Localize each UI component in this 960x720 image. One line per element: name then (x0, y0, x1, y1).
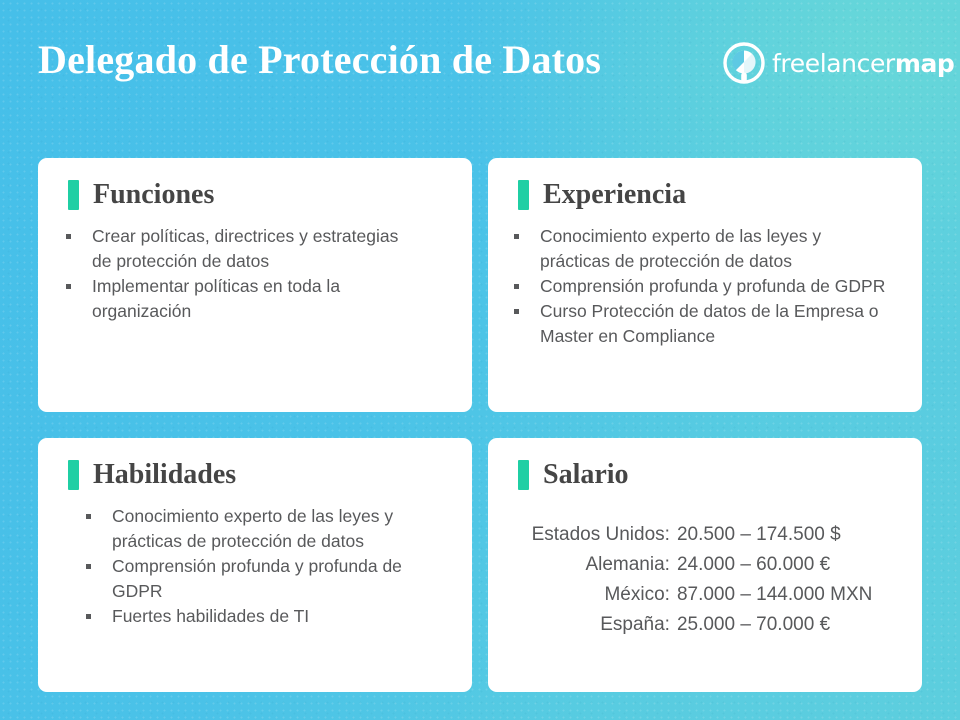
list-item: Conocimiento experto de las leyes y prác… (514, 224, 896, 274)
bullet-list: Crear políticas, directrices y estrategi… (64, 224, 446, 324)
accent-bar-icon (68, 460, 79, 490)
salary-country: España: (514, 610, 677, 640)
bullet-square-icon (86, 604, 112, 619)
card-title: Habilidades (93, 460, 236, 490)
table-row: España: 25.000 – 70.000 € (514, 610, 896, 640)
page-title: Delegado de Protección de Datos (38, 36, 601, 84)
salary-range: 20.500 – 174.500 $ (677, 520, 896, 550)
card-salario: Salario Estados Unidos: 20.500 – 174.500… (488, 438, 922, 692)
card-title: Salario (543, 460, 629, 490)
bullet-square-icon (86, 554, 112, 569)
list-item: Fuertes habilidades de TI (86, 604, 446, 629)
list-item-text: Conocimiento experto de las leyes y prác… (112, 504, 412, 554)
list-item-text: Conocimiento experto de las leyes y prác… (540, 224, 892, 274)
card-habilidades: Habilidades Conocimiento experto de las … (38, 438, 472, 692)
card-heading: Habilidades (64, 460, 446, 490)
list-item-text: Curso Protección de datos de la Empresa … (540, 299, 892, 349)
accent-bar-icon (518, 460, 529, 490)
brand-wordmark: freelancermap (772, 51, 954, 76)
bullet-square-icon (514, 299, 540, 314)
card-heading: Salario (514, 460, 896, 490)
accent-bar-icon (518, 180, 529, 210)
bullet-square-icon (86, 504, 112, 519)
card-funciones: Funciones Crear políticas, directrices y… (38, 158, 472, 412)
list-item-text: Implementar políticas en toda la organiz… (92, 274, 422, 324)
list-item-text: Comprensión profunda y profunda de GDPR (112, 554, 412, 604)
list-item: Comprensión profunda y profunda de GDPR (514, 274, 896, 299)
card-title: Funciones (93, 180, 214, 210)
table-row: Alemania: 24.000 – 60.000 € (514, 550, 896, 580)
list-item-text: Fuertes habilidades de TI (112, 604, 412, 629)
list-item: Implementar políticas en toda la organiz… (66, 274, 446, 324)
bullet-list: Conocimiento experto de las leyes y prác… (514, 224, 896, 349)
bullet-list: Conocimiento experto de las leyes y prác… (64, 504, 446, 629)
salary-country: México: (514, 580, 677, 610)
list-item: Curso Protección de datos de la Empresa … (514, 299, 896, 349)
brand-word-map: map (895, 49, 955, 78)
card-experiencia: Experiencia Conocimiento experto de las … (488, 158, 922, 412)
salary-range: 24.000 – 60.000 € (677, 550, 896, 580)
cards-grid: Funciones Crear políticas, directrices y… (38, 158, 922, 692)
card-title: Experiencia (543, 180, 686, 210)
card-heading: Experiencia (514, 180, 896, 210)
freelancermap-aperture-icon (723, 42, 765, 84)
card-heading: Funciones (64, 180, 446, 210)
salary-table: Estados Unidos: 20.500 – 174.500 $ Alema… (514, 520, 896, 640)
bullet-square-icon (514, 274, 540, 289)
salary-country: Alemania: (514, 550, 677, 580)
table-row: Estados Unidos: 20.500 – 174.500 $ (514, 520, 896, 550)
brand-logo: freelancermap (723, 42, 954, 84)
brand-word-freelancer: freelancer (772, 49, 895, 78)
list-item: Crear políticas, directrices y estrategi… (66, 224, 446, 274)
poster-header: Delegado de Protección de Datos freelanc… (0, 0, 960, 130)
list-item: Conocimiento experto de las leyes y prác… (86, 504, 446, 554)
table-row: México: 87.000 – 144.000 MXN (514, 580, 896, 610)
bullet-square-icon (514, 224, 540, 239)
bullet-square-icon (66, 274, 92, 289)
salary-country: Estados Unidos: (514, 520, 677, 550)
list-item-text: Crear políticas, directrices y estrategi… (92, 224, 422, 274)
salary-range: 87.000 – 144.000 MXN (677, 580, 896, 610)
infographic-poster: Delegado de Protección de Datos freelanc… (0, 0, 960, 720)
list-item: Comprensión profunda y profunda de GDPR (86, 554, 446, 604)
bullet-square-icon (66, 224, 92, 239)
salary-range: 25.000 – 70.000 € (677, 610, 896, 640)
list-item-text: Comprensión profunda y profunda de GDPR (540, 274, 892, 299)
accent-bar-icon (68, 180, 79, 210)
